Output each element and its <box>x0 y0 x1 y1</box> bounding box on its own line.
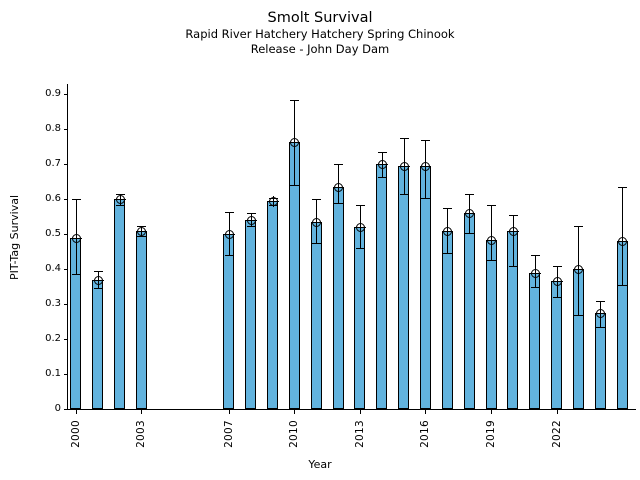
errorbar-cap-upper <box>596 301 605 302</box>
y-axis-tick <box>64 199 68 200</box>
x-axis-tick-label: 2010 <box>288 420 300 448</box>
bar[interactable] <box>333 187 344 409</box>
bar[interactable] <box>354 227 365 409</box>
y-axis-tick-label: 0 <box>21 404 61 414</box>
errorbar-cap-lower <box>618 285 627 286</box>
errorbar-line <box>491 205 492 261</box>
errorbar-cap-lower <box>290 185 299 186</box>
x-axis-tick <box>425 410 426 414</box>
x-axis-tick <box>76 410 77 414</box>
errorbar-cap-lower <box>356 248 365 249</box>
y-axis-tick-label: 0.4 <box>21 264 61 274</box>
data-point-marker[interactable] <box>487 236 496 245</box>
bar[interactable] <box>92 280 103 409</box>
data-point-marker[interactable] <box>94 276 103 285</box>
x-axis-tick-label: 2000 <box>70 420 82 448</box>
errorbar-cap-lower <box>487 260 496 261</box>
chart-title: Smolt Survival <box>0 10 640 27</box>
data-point-marker[interactable] <box>509 227 518 236</box>
errorbar-line <box>513 215 514 266</box>
bar[interactable] <box>420 166 431 409</box>
errorbar-cap-upper <box>465 194 474 195</box>
x-axis-spine <box>67 409 636 410</box>
errorbar-cap-upper <box>443 208 452 209</box>
errorbar-cap-upper <box>290 100 299 101</box>
errorbar-cap-upper <box>378 152 387 153</box>
errorbar-cap-upper <box>400 138 409 139</box>
bar[interactable] <box>551 281 562 409</box>
errorbar-cap-lower <box>443 253 452 254</box>
bar[interactable] <box>114 199 125 409</box>
y-axis-tick <box>64 339 68 340</box>
data-point-marker[interactable] <box>553 277 562 286</box>
y-axis-tick <box>64 409 68 410</box>
data-point-marker[interactable] <box>290 138 299 147</box>
y-axis-tick-label: 0.7 <box>21 159 61 169</box>
x-axis-tick-label: 2016 <box>419 420 431 448</box>
data-point-marker[interactable] <box>72 234 81 243</box>
errorbar-cap-upper <box>247 213 256 214</box>
errorbar-cap-upper <box>574 226 583 227</box>
bar[interactable] <box>376 164 387 409</box>
data-point-marker[interactable] <box>269 197 278 206</box>
bar[interactable] <box>267 201 278 409</box>
x-axis-tick <box>141 410 142 414</box>
errorbar-cap-lower <box>400 194 409 195</box>
data-point-marker[interactable] <box>116 195 125 204</box>
errorbar-cap-upper <box>334 164 343 165</box>
y-axis-tick <box>64 304 68 305</box>
bar[interactable] <box>223 234 234 409</box>
bar[interactable] <box>398 166 409 409</box>
chart-subtitle-line-2: Release - John Day Dam <box>0 42 640 57</box>
y-axis-tick-label: 0.2 <box>21 334 61 344</box>
y-axis-tick-label: 0.5 <box>21 229 61 239</box>
plot-frame: 00.10.20.30.40.50.60.70.80.9 20002003200… <box>67 84 635 409</box>
y-axis-tick-label: 0.6 <box>21 194 61 204</box>
y-axis-tick <box>64 234 68 235</box>
errorbar-cap-lower <box>574 315 583 316</box>
y-axis-tick <box>64 94 68 95</box>
errorbar-cap-upper <box>618 187 627 188</box>
bar[interactable] <box>311 222 322 409</box>
errorbar-cap-lower <box>312 243 321 244</box>
errorbar-cap-lower <box>421 198 430 199</box>
errorbar-cap-lower <box>72 274 81 275</box>
y-axis-tick <box>64 129 68 130</box>
y-axis-tick-label: 0.9 <box>21 89 61 99</box>
chart-figure: Smolt Survival Rapid River Hatchery Hatc… <box>0 0 640 480</box>
errorbar-cap-upper <box>509 215 518 216</box>
data-point-marker[interactable] <box>247 216 256 225</box>
x-axis-tick <box>491 410 492 414</box>
x-axis-tick <box>360 410 361 414</box>
bar[interactable] <box>442 231 453 409</box>
x-axis-tick <box>294 410 295 414</box>
x-axis-tick-label: 2013 <box>354 420 366 448</box>
data-point-marker[interactable] <box>400 162 409 171</box>
errorbar-cap-lower <box>94 288 103 289</box>
errorbar-cap-upper <box>356 205 365 206</box>
errorbar-cap-upper <box>553 266 562 267</box>
errorbar-cap-upper <box>94 271 103 272</box>
bar[interactable] <box>245 220 256 409</box>
bar[interactable] <box>464 213 475 409</box>
y-axis-spine <box>67 84 68 410</box>
errorbar-cap-upper <box>225 212 234 213</box>
bar[interactable] <box>529 273 540 409</box>
x-axis-tick-label: 2022 <box>551 420 563 448</box>
errorbar-cap-lower <box>596 327 605 328</box>
title-block: Smolt Survival Rapid River Hatchery Hatc… <box>0 10 640 57</box>
bar[interactable] <box>486 240 497 409</box>
plot-area: 00.10.20.30.40.50.60.70.80.9 20002003200… <box>67 84 635 409</box>
x-axis-tick-label: 2007 <box>223 420 235 448</box>
errorbar-cap-upper <box>487 205 496 206</box>
errorbar-cap-upper <box>72 199 81 200</box>
errorbar-cap-lower <box>531 287 540 288</box>
y-axis-tick-label: 0.8 <box>21 124 61 134</box>
data-point-marker[interactable] <box>531 269 540 278</box>
x-axis-tick <box>229 410 230 414</box>
x-axis-tick-label: 2003 <box>135 420 147 448</box>
x-axis-title: Year <box>0 458 640 471</box>
y-axis-tick-label: 0.1 <box>21 369 61 379</box>
errorbar-cap-upper <box>531 255 540 256</box>
y-axis-title: PIT-Tag Survival <box>8 195 21 280</box>
errorbar-cap-lower <box>378 177 387 178</box>
y-axis-tick <box>64 269 68 270</box>
y-axis-tick-label: 0.3 <box>21 299 61 309</box>
bar[interactable] <box>136 231 147 409</box>
errorbar-cap-lower <box>334 203 343 204</box>
errorbar-cap-upper <box>421 140 430 141</box>
errorbar-cap-lower <box>553 297 562 298</box>
x-axis-tick <box>557 410 558 414</box>
errorbar-cap-lower <box>465 233 474 234</box>
y-axis-tick <box>64 164 68 165</box>
errorbar-cap-lower <box>509 266 518 267</box>
errorbar-cap-upper <box>312 199 321 200</box>
errorbar-cap-lower <box>225 255 234 256</box>
y-axis-tick <box>64 374 68 375</box>
chart-subtitle-line-1: Rapid River Hatchery Hatchery Spring Chi… <box>0 27 640 42</box>
x-axis-tick-label: 2019 <box>485 420 497 448</box>
